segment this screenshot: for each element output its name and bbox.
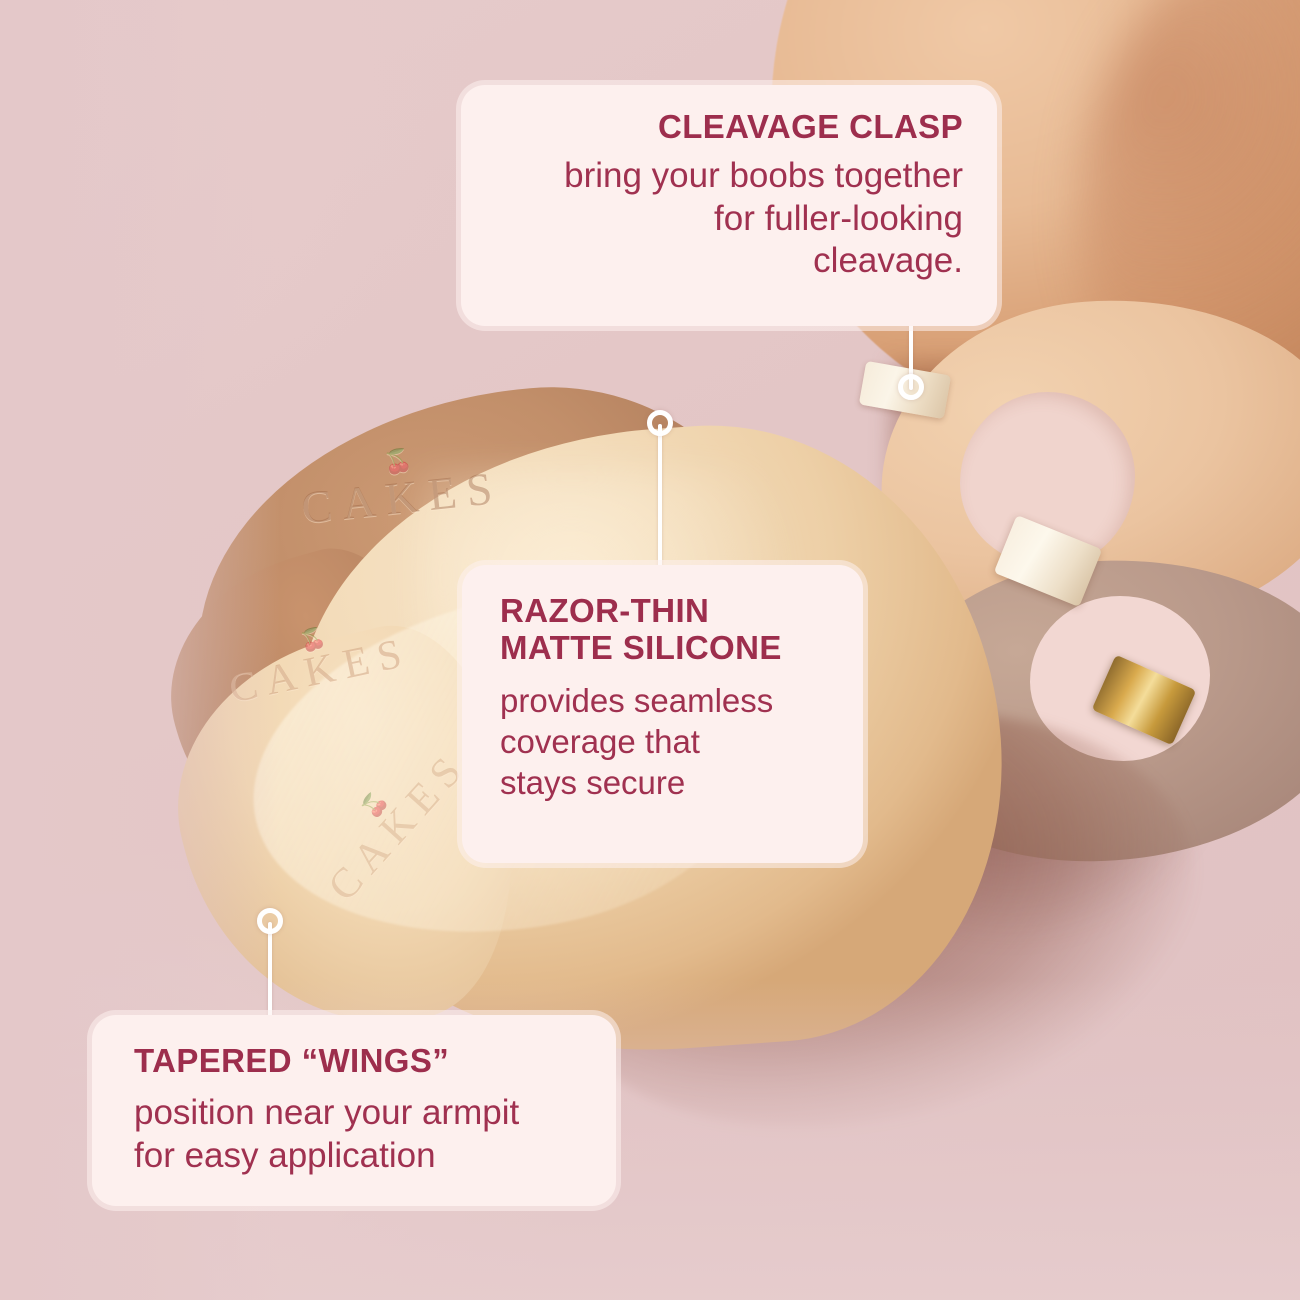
callout-body-tapered-wings: position near your armpit for easy appli… — [134, 1092, 586, 1177]
callout-body-line: bring your boobs together — [564, 156, 963, 195]
callout-heading-line: MATTE SILICONE — [500, 629, 782, 666]
callout-body-line: position near your armpit — [134, 1093, 519, 1132]
callout-body-line: for fuller-looking — [714, 199, 963, 238]
callout-card-cleavage-clasp: CLEAVAGE CLASP bring your boobs together… — [461, 85, 997, 326]
connector-line — [268, 922, 272, 1022]
callout-card-razor-thin-matte-silicone: RAZOR-THIN MATTE SILICONE provides seaml… — [462, 565, 863, 863]
callout-body-line: coverage that — [500, 723, 700, 760]
connector-line — [658, 424, 662, 572]
connector-endpoint-dot — [257, 908, 283, 934]
connector-endpoint-dot — [898, 374, 924, 400]
callout-heading-line: RAZOR-THIN — [500, 592, 709, 629]
connector-endpoint-dot — [647, 410, 673, 436]
callout-body-line: cleavage. — [813, 241, 963, 280]
callout-body-line: provides seamless — [500, 682, 773, 719]
callout-body-line: stays secure — [500, 764, 685, 801]
callout-heading-cleavage-clasp: CLEAVAGE CLASP — [491, 109, 963, 146]
infographic-canvas: 🍒 CAKES 🍒 CAKES 🍒 CAKES CLEAVAGE CLASP — [0, 0, 1300, 1300]
callout-body-cleavage-clasp: bring your boobs together for fuller-loo… — [491, 155, 963, 283]
callout-body-razor-thin: provides seamless coverage that stays se… — [500, 681, 837, 804]
callout-card-tapered-wings: TAPERED “WINGS” position near your armpi… — [92, 1015, 616, 1206]
callout-heading-razor-thin: RAZOR-THIN MATTE SILICONE — [500, 593, 837, 667]
callout-body-line: for easy application — [134, 1136, 436, 1175]
callout-heading-tapered-wings: TAPERED “WINGS” — [134, 1043, 586, 1080]
